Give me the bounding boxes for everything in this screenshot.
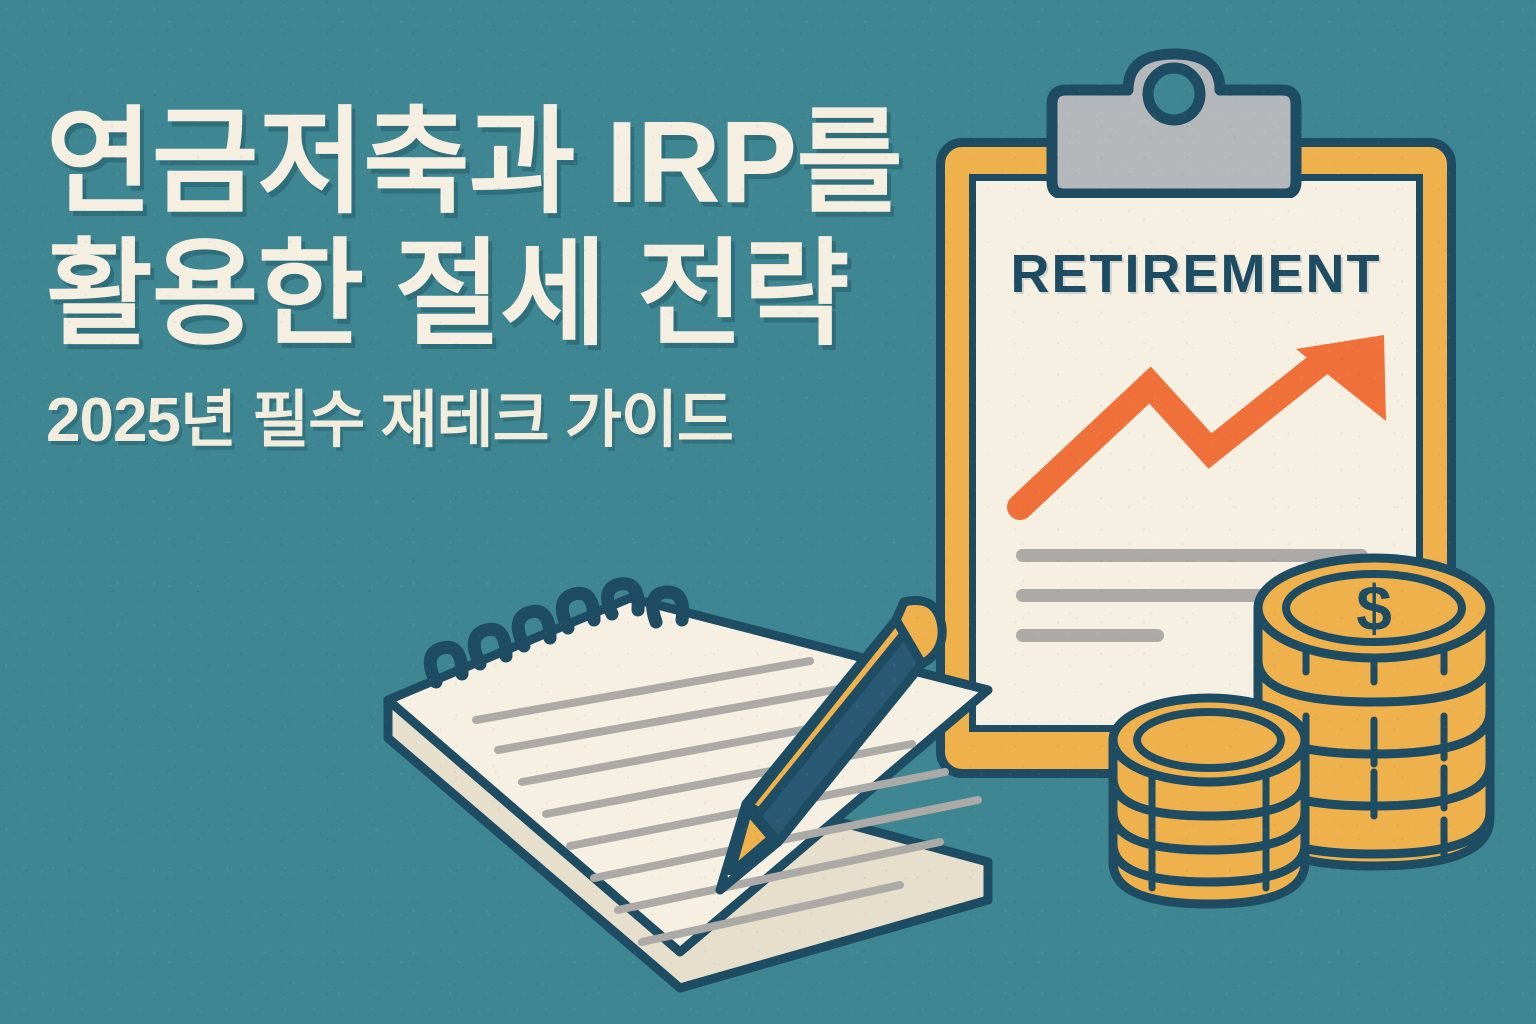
hero-title-line-1: 연금저축과 IRP를 — [46, 96, 902, 228]
hero-subtitle: 2025년 필수 재테크 가이드 — [46, 386, 902, 456]
hero-title-line-2: 활용한 절세 전략 — [46, 228, 902, 360]
document-title: RETIREMENT — [976, 243, 1416, 305]
growth-arrow-icon — [998, 329, 1398, 529]
coin-dollar-symbol: $ — [1356, 572, 1392, 644]
paper-text-line — [1016, 629, 1164, 642]
pen — [690, 580, 970, 910]
clipboard-clip-icon — [1044, 46, 1304, 198]
pen-barrel — [746, 620, 922, 842]
hero-text-block: 연금저축과 IRP를 활용한 절세 전략 2025년 필수 재테크 가이드 — [46, 96, 902, 456]
thumbnail-canvas: 연금저축과 IRP를 활용한 절세 전략 2025년 필수 재테크 가이드 RE… — [0, 0, 1536, 1024]
coin-stack-short — [1104, 690, 1314, 920]
